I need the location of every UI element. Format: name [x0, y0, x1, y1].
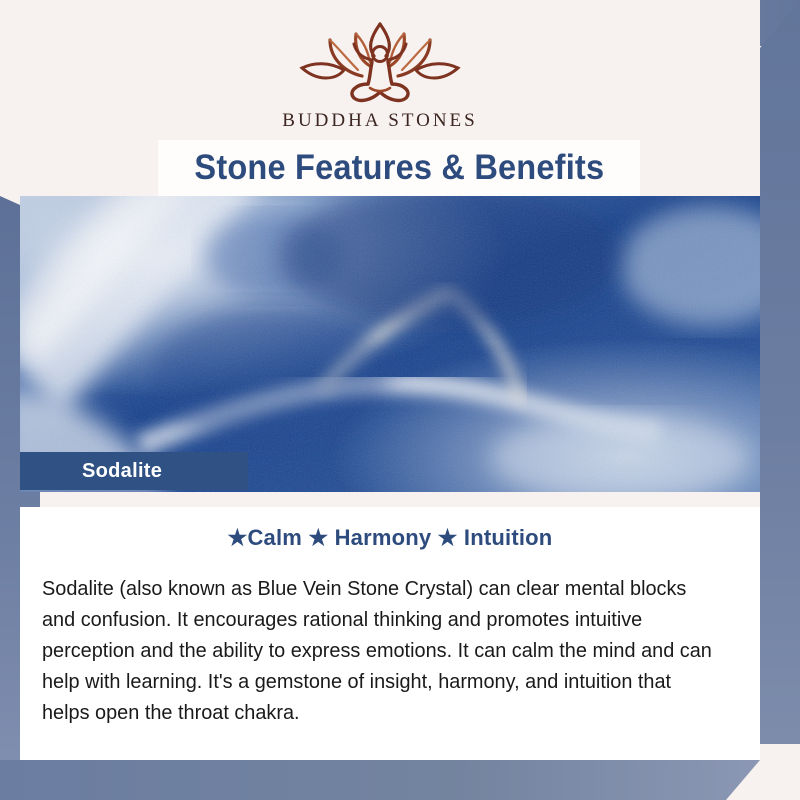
stone-label: Sodalite: [20, 452, 248, 490]
brand-logo: BUDDHA STONES: [0, 18, 760, 132]
stone-photo: [20, 196, 760, 492]
keywords-line: ★Calm ★ Harmony ★ Intuition: [20, 525, 760, 551]
page-title: Stone Features & Benefits: [194, 148, 604, 188]
lotus-meditation-icon: [296, 18, 464, 104]
description-text: Sodalite (also known as Blue Vein Stone …: [42, 573, 717, 728]
sodalite-texture-graphic: [20, 196, 760, 492]
frame-accent-bottom: [0, 760, 760, 800]
title-band: Stone Features & Benefits: [158, 140, 640, 196]
stone-label-text: Sodalite: [82, 460, 162, 483]
frame-accent-right: [760, 0, 800, 744]
infographic-page: BUDDHA STONES Stone Features & Benefits: [0, 0, 800, 800]
content-card: ★Calm ★ Harmony ★ Intuition Sodalite (al…: [20, 507, 760, 760]
brand-name: BUDDHA STONES: [282, 110, 477, 132]
